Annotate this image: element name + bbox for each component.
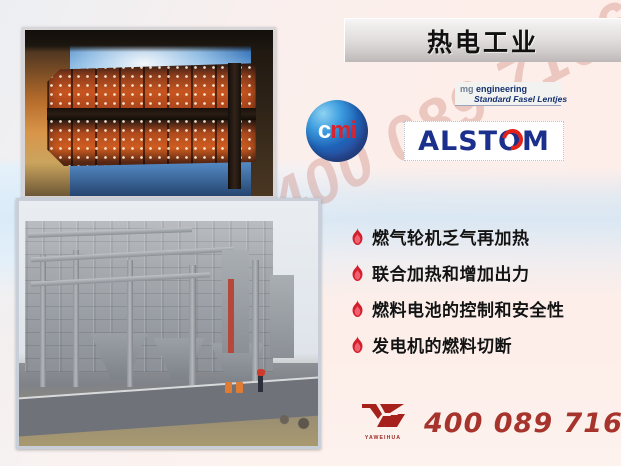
list-item: 发电机的燃料切断	[352, 332, 617, 357]
mg-engineering-mg: mg	[460, 84, 474, 94]
list-item-label: 燃料电池的控制和安全性	[372, 296, 565, 321]
burner-photo-inner	[25, 30, 273, 196]
flame-icon	[352, 336, 363, 353]
phone-number: 400 089 7166	[424, 408, 621, 439]
plant-tower	[222, 250, 249, 353]
plant-worker	[258, 375, 263, 392]
plant-column	[252, 260, 259, 387]
cmi-logo-mi: mi	[330, 119, 356, 143]
furnace-ceiling	[25, 30, 273, 52]
alstom-logo-text: ALSTOM	[418, 128, 550, 155]
burner-photo	[22, 27, 276, 199]
plant-column	[40, 255, 47, 387]
list-item-label: 燃气轮机乏气再加热	[372, 224, 530, 249]
plant-tower	[270, 275, 294, 358]
plant-photo-inner	[19, 201, 318, 446]
list-item: 燃气轮机乏气再加热	[352, 224, 617, 249]
flame-icon	[352, 264, 363, 281]
mg-engineering-logo: mg engineering Standard Fasel Lentjes	[455, 82, 561, 106]
footer-contact: YAWEIHUA 400 089 7166	[360, 403, 621, 443]
mg-engineering-line1: mg engineering	[460, 84, 557, 94]
mg-engineering-word: engineering	[474, 84, 528, 94]
mg-engineering-line2: Standard Fasel Lentjes	[460, 94, 557, 104]
plant-column	[189, 265, 196, 388]
flame-icon	[352, 228, 363, 245]
list-item: 燃料电池的控制和安全性	[352, 296, 617, 321]
feature-bullet-list: 燃气轮机乏气再加热 联合加热和增加出力 燃料电池的控制和安全性 发电机的燃料切断	[352, 224, 617, 368]
alstom-logo: ALSTOM	[404, 121, 564, 161]
plant-red-pipe	[228, 279, 233, 353]
plant-debris	[270, 412, 318, 432]
alstom-swirl-icon	[498, 124, 527, 153]
burner-center-band	[47, 108, 255, 120]
cmi-logo-c: c	[318, 119, 330, 143]
plant-column	[73, 250, 80, 387]
cmi-logo: cmi	[306, 100, 368, 162]
list-item: 联合加热和增加出力	[352, 260, 617, 285]
burner-support-post	[228, 63, 240, 189]
yaweihua-brand-label: YAWEIHUA	[360, 435, 406, 441]
plant-barrel	[236, 382, 243, 393]
yaweihua-mark-icon	[360, 403, 406, 429]
list-item-label: 发电机的燃料切断	[372, 332, 512, 357]
slide-title-bar: 热电工业	[344, 18, 621, 62]
plant-barrel	[225, 382, 232, 393]
page-title: 热电工业	[427, 23, 539, 59]
flame-icon	[352, 300, 363, 317]
yaweihua-logo: YAWEIHUA	[360, 403, 406, 443]
list-item-label: 联合加热和增加出力	[372, 260, 530, 285]
plant-photo	[16, 198, 321, 449]
